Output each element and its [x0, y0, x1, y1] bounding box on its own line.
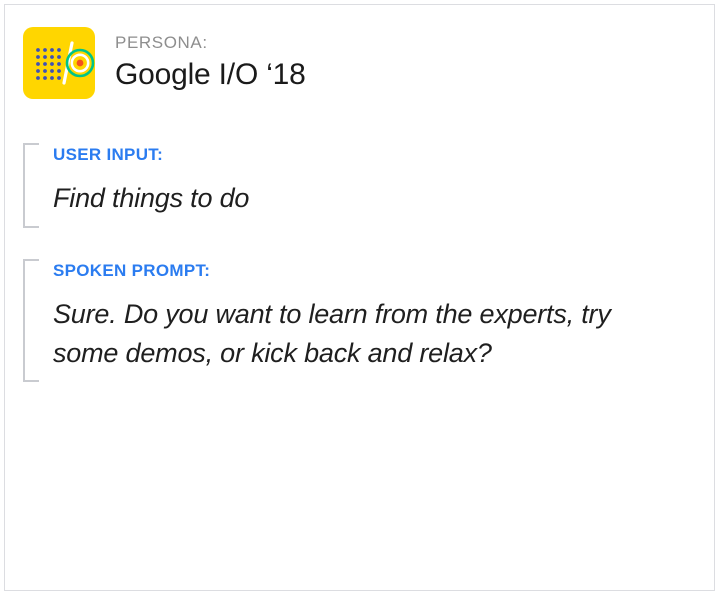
user-input-value: Find things to do	[53, 179, 249, 217]
bracket-tick-bottom	[23, 226, 39, 228]
user-input-block: USER INPUT: Find things to do	[23, 143, 683, 228]
bracket-tick-top	[23, 143, 39, 145]
persona-label: PERSONA:	[115, 32, 306, 53]
bracket-tick-bottom	[23, 380, 39, 382]
user-input-bracket	[23, 143, 39, 228]
user-input-label: USER INPUT:	[53, 145, 249, 165]
user-input-body: USER INPUT: Find things to do	[39, 143, 249, 228]
spoken-prompt-bracket	[23, 259, 39, 382]
spoken-prompt-body: SPOKEN PROMPT: Sure. Do you want to lear…	[39, 259, 683, 382]
spoken-prompt-value: Sure. Do you want to learn from the expe…	[53, 295, 683, 372]
spoken-prompt-block: SPOKEN PROMPT: Sure. Do you want to lear…	[23, 259, 683, 382]
persona-header-text: PERSONA: Google I/O ‘18	[115, 32, 306, 94]
persona-header: PERSONA: Google I/O ‘18	[23, 27, 306, 99]
google-io-logo-icon	[23, 27, 95, 99]
bracket-tick-top	[23, 259, 39, 261]
spoken-prompt-label: SPOKEN PROMPT:	[53, 261, 683, 281]
persona-card: PERSONA: Google I/O ‘18 USER INPUT: Find…	[4, 4, 715, 591]
persona-title: Google I/O ‘18	[115, 55, 306, 94]
